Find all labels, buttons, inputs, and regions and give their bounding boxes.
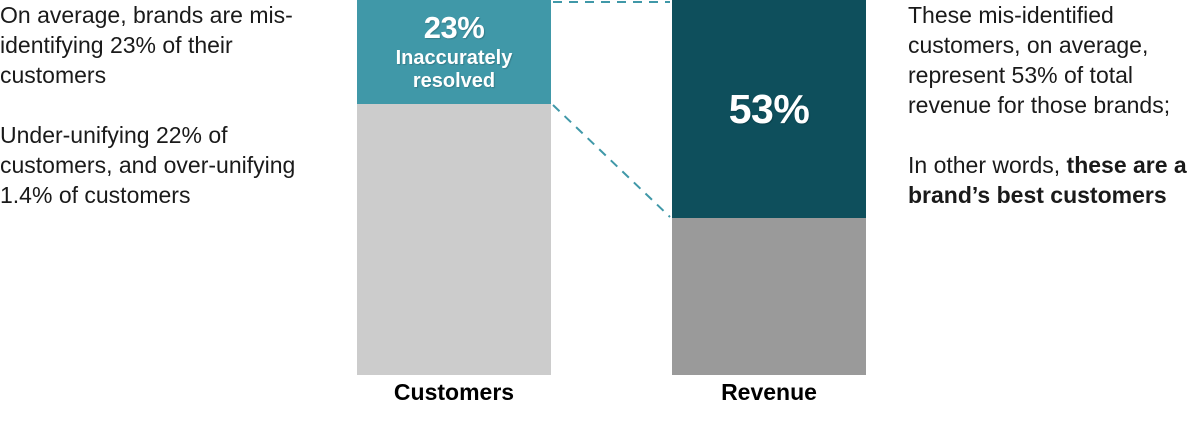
bar-stack-customers: 23% Inaccurately resolved <box>357 0 551 375</box>
bar-segment-caption-inaccurately-resolved: Inaccurately resolved <box>357 47 551 93</box>
bar-column-customers[interactable]: 23% Inaccurately resolved Customers <box>357 0 551 375</box>
bar-segment-value-53: 53% <box>729 87 810 131</box>
bar-segment-value-23: 23% <box>424 11 485 45</box>
right-paragraph-2-lead: In other words, <box>908 152 1067 178</box>
bar-column-revenue[interactable]: 53% Revenue <box>672 0 866 375</box>
axis-label-customers: Customers <box>357 379 551 406</box>
connector-line-bottom <box>553 105 670 217</box>
bar-segment-inaccurately-resolved[interactable]: 23% Inaccurately resolved <box>357 0 551 104</box>
bar-segment-other-revenue[interactable] <box>672 218 866 375</box>
axis-label-revenue: Revenue <box>672 379 866 406</box>
bar-stack-revenue: 53% <box>672 0 866 375</box>
right-paragraph-2: In other words, these are a brand’s best… <box>908 150 1200 210</box>
bar-segment-mis-identified-revenue[interactable]: 53% <box>672 0 866 218</box>
right-annotation-column: These mis-identified customers, on avera… <box>908 0 1200 210</box>
right-paragraph-1: These mis-identified customers, on avera… <box>908 0 1200 120</box>
bar-segment-accurately-resolved[interactable] <box>357 104 551 375</box>
